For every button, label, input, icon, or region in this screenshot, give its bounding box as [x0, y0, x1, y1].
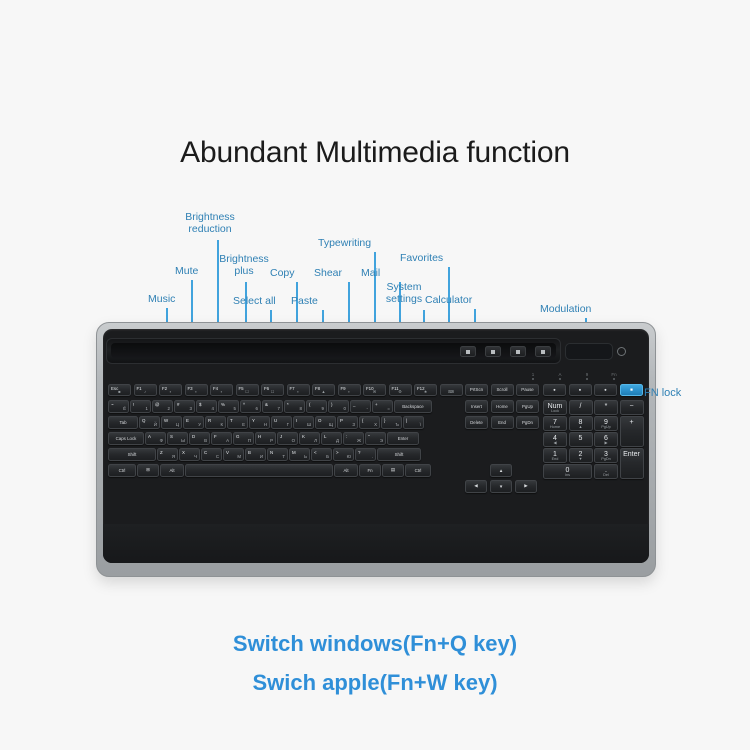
key-label: Home [492, 401, 513, 412]
key-numpad-enter[interactable]: Enter [620, 448, 644, 479]
key-?[interactable]: ?. [355, 448, 376, 461]
key-f2[interactable]: F2▪ [159, 384, 182, 396]
key-label: ▶ [516, 481, 536, 492]
key-label: Delete [466, 417, 487, 428]
key-legend-cyrillic: 1 [146, 406, 148, 411]
key-legend-cyrillic: 7 [278, 406, 280, 411]
key-label: Shift [109, 449, 155, 460]
key-legend-cyrillic: Ы [181, 438, 185, 443]
key-x[interactable]: XЧ [179, 448, 200, 461]
callout-label-calculator: Calculator [425, 295, 472, 307]
key-sublabel: End [544, 457, 566, 461]
key--[interactable]: _- [350, 400, 371, 413]
key-alt-right[interactable]: Alt [334, 464, 358, 477]
key-numpad-[interactable]: * [594, 400, 618, 415]
key-legend-latin: F [214, 434, 217, 439]
key-numpad-num[interactable]: NumLock [543, 400, 567, 415]
key-legend-cyrillic: Я [172, 454, 175, 459]
key-legend-cyrillic: Н [264, 422, 267, 427]
key-legend-cyrillic: - [367, 406, 368, 411]
key-legend-latin: E [186, 418, 189, 423]
key-label: + [621, 419, 643, 426]
key-n[interactable]: NТ [267, 448, 288, 461]
key-esc[interactable]: Esc■ [108, 384, 131, 396]
key-insert[interactable]: Insert [465, 400, 488, 413]
key-fn-symbol: ★ [415, 389, 436, 394]
key-3[interactable]: #3 [174, 400, 195, 413]
key-w[interactable]: WЦ [161, 416, 182, 429]
key-refresh-icon[interactable]: ● [594, 384, 617, 396]
key-legend-latin: @ [155, 402, 159, 407]
key-<[interactable]: <Б [311, 448, 332, 461]
key-legend-latin: ! [133, 402, 134, 407]
key-fn-symbol: ▪ [288, 389, 309, 394]
key-media[interactable]: ⌨ [440, 384, 463, 396]
key-legend-latin: U [274, 418, 277, 423]
key-fn[interactable]: Fn [359, 464, 381, 477]
key-legend-latin: ~ [111, 402, 114, 407]
callout-label-select-all: Select all [233, 296, 276, 308]
key-numpad-8[interactable]: 8▲ [569, 416, 593, 431]
next-track-icon [541, 350, 545, 354]
key-q[interactable]: QЙ [139, 416, 160, 429]
key-a[interactable]: AФ [145, 432, 166, 445]
callout-label-brightness-plus: Brightness plus [212, 254, 276, 277]
key-legend-latin: P [340, 418, 343, 423]
key-numpad-1[interactable]: 1End [543, 448, 567, 463]
key-legend-cyrillic: Ч [194, 454, 197, 459]
key-label: − [621, 403, 643, 410]
stop-button[interactable] [485, 346, 501, 357]
key-numpad-4[interactable]: 4◀ [543, 432, 567, 447]
callout-label-shear: Shear [314, 268, 342, 280]
key-z[interactable]: ZЯ [157, 448, 178, 461]
callout-label-mute: Mute [175, 266, 198, 278]
power-indicator-icon [617, 347, 626, 356]
key-sublabel: ▼ [570, 457, 592, 461]
modulation-slider-track[interactable] [565, 343, 613, 360]
key-legend-cyrillic: Ц [176, 422, 179, 427]
key-legend-cyrillic: Ф [160, 438, 163, 443]
play-pause-icon [516, 350, 520, 354]
key-label: Backspace [395, 401, 431, 412]
key-fn-symbol: ♪ [135, 389, 156, 394]
key-legend-latin: < [314, 450, 317, 455]
key-legend-latin: J [280, 434, 282, 439]
key-arrow-left[interactable]: ◀ [465, 480, 487, 493]
key-alt-left[interactable]: Alt [160, 464, 184, 477]
key-l[interactable]: LД [321, 432, 342, 445]
key-numpad-decimal[interactable]: .Del [594, 464, 618, 479]
key-label: Fn [360, 465, 380, 476]
key-f1[interactable]: F1♪ [134, 384, 157, 396]
prev-track-button[interactable] [460, 346, 476, 357]
key-delete[interactable]: Delete [465, 416, 488, 429]
product-feature-image: Abundant Multimedia function MusicMuteBr… [0, 0, 750, 750]
key-f[interactable]: FА [211, 432, 232, 445]
key-legend-cyrillic: З [352, 422, 355, 427]
prev-track-icon [466, 350, 470, 354]
key-enter[interactable]: Enter [387, 432, 419, 445]
led-indicator-1: 1 [527, 372, 539, 380]
key-legend-cyrillic: Б [326, 454, 329, 459]
key-legend-cyrillic: Э [380, 438, 383, 443]
key-label: Caps Lock [109, 433, 143, 444]
key-c[interactable]: CС [201, 448, 222, 461]
key-legend-latin: I [296, 418, 297, 423]
key-p[interactable]: PЗ [337, 416, 358, 429]
key-fn-symbol: ⌨ [441, 389, 462, 394]
key-label: ▲ [491, 465, 511, 476]
key-label: Ctrl [109, 465, 135, 476]
callout-label-copy: Copy [270, 268, 295, 280]
key-legend-cyrillic: = [387, 406, 390, 411]
key-2[interactable]: @2 [152, 400, 173, 413]
key-legend-cyrillic: Х [374, 422, 377, 427]
key-e[interactable]: EУ [183, 416, 204, 429]
key-legend-latin: Z [160, 450, 163, 455]
key-label: ● [570, 385, 591, 395]
key-label: ⊞ [138, 465, 158, 476]
key-label: Enter [388, 433, 418, 444]
key-legend-cyrillic: О [292, 438, 295, 443]
key-numpad-[interactable]: − [620, 400, 644, 415]
key-numpad-6[interactable]: 6▶ [594, 432, 618, 447]
key-r[interactable]: RК [205, 416, 226, 429]
key-numpad-5[interactable]: 5 [569, 432, 593, 447]
key-legend-latin: $ [199, 402, 201, 407]
key-o[interactable]: OЩ [315, 416, 336, 429]
key-label: PgUp [517, 401, 538, 412]
key-home-icon[interactable]: ● [543, 384, 566, 396]
key-label: End [492, 417, 513, 428]
key-legend-cyrillic: 9 [322, 406, 324, 411]
key-label: Pause [517, 385, 538, 395]
key-legend-cyrillic: \ [420, 422, 421, 427]
key-f9[interactable]: F9▪ [338, 384, 361, 396]
key-shift-left[interactable]: Shift [108, 448, 156, 461]
key-label: Shift [378, 449, 420, 460]
key-fn-lock[interactable]: ■ [620, 384, 643, 396]
key-numpad-9[interactable]: 9PgUp [594, 416, 618, 431]
key-legend-cyrillic: 3 [190, 406, 192, 411]
key-legend-cyrillic: П [248, 438, 251, 443]
key-fn-symbol: ⚙ [390, 389, 411, 394]
key-legend-latin: | [406, 418, 407, 423]
key-legend-latin: _ [353, 402, 355, 407]
key-legend-latin: * [287, 402, 289, 407]
key-fn-symbol: ▪ [339, 389, 360, 394]
callout-label-typewriting: Typewriting [318, 238, 371, 250]
key-legend-latin: W [164, 418, 168, 423]
key-backtick[interactable]: ~Ё [108, 400, 129, 413]
key-legend-cyrillic: У [198, 422, 201, 427]
next-track-button[interactable] [535, 346, 551, 357]
key-legend-latin: L [324, 434, 326, 439]
key-fn-symbol: ☐ [262, 389, 283, 394]
callout-label-music: Music [148, 294, 175, 306]
key-legend-cyrillic: 4 [212, 406, 214, 411]
key-numpad-0[interactable]: 0Ins [543, 464, 592, 479]
callout-label-brightness-reduction: Brightness reduction [178, 212, 242, 235]
key-label: ● [595, 385, 616, 395]
key-8[interactable]: *8 [284, 400, 305, 413]
key-legend-cyrillic: Ю [347, 454, 351, 459]
key-9[interactable]: (9 [306, 400, 327, 413]
led-indicator-4: Fn [608, 372, 620, 380]
key-legend-latin: S [170, 434, 173, 439]
key-legend-latin: { [362, 418, 363, 423]
key-legend-latin: R [208, 418, 211, 423]
key-f7[interactable]: F7▪ [287, 384, 310, 396]
key-u[interactable]: UГ [271, 416, 292, 429]
key-legend-latin: } [384, 418, 385, 423]
key-legend-cyrillic: . [372, 454, 373, 459]
key-1[interactable]: !1 [130, 400, 151, 413]
key-numpad-3[interactable]: 3PgDn [594, 448, 618, 463]
key-legend-cyrillic: В [204, 438, 207, 443]
key-legend-latin: D [192, 434, 195, 439]
key-legend-latin: T [230, 418, 233, 423]
key-legend-latin: " [368, 434, 370, 439]
key-v[interactable]: VМ [223, 448, 244, 461]
key-legend-latin: M [292, 450, 296, 455]
key-legend-latin: B [248, 450, 251, 455]
key-fn-symbol: ▪ [211, 389, 232, 394]
key-label: Tab [109, 417, 137, 428]
key-b[interactable]: BИ [245, 448, 266, 461]
key-prtscn[interactable]: PrtScn [465, 384, 488, 396]
key-f6[interactable]: F6☐ [261, 384, 284, 396]
key-menu[interactable]: ▤ [382, 464, 404, 477]
key-sublabel: Home [544, 425, 566, 429]
key-legend-cyrillic: 5 [234, 406, 236, 411]
key-fn-symbol: ☐ [237, 389, 258, 394]
key-legend-cyrillic: К [220, 422, 223, 427]
key-f4[interactable]: F4▪ [210, 384, 233, 396]
key-legend-cyrillic: Р [270, 438, 273, 443]
key-legend-latin: & [265, 402, 268, 407]
key-legend-latin: ( [309, 402, 310, 407]
key-legend-cyrillic: Е [242, 422, 245, 427]
key-f3[interactable]: F3▪ [185, 384, 208, 396]
key-7[interactable]: &7 [262, 400, 283, 413]
key-legend-cyrillic: И [260, 454, 263, 459]
palm-rest [103, 524, 649, 563]
key-label: ● [544, 385, 565, 395]
key-|[interactable]: |\ [403, 416, 424, 429]
key-i[interactable]: IШ [293, 416, 314, 429]
key-f11[interactable]: F11⚙ [389, 384, 412, 396]
key-label: * [595, 403, 617, 410]
key-tab[interactable]: Tab [108, 416, 138, 429]
key-legend-cyrillic: 2 [168, 406, 170, 411]
key-5[interactable]: %5 [218, 400, 239, 413]
key-f8[interactable]: F8▲ [312, 384, 335, 396]
key-caps-lock[interactable]: Caps Lock [108, 432, 144, 445]
key-legend-cyrillic: 6 [256, 406, 258, 411]
callout-label-modulation: Modulation [540, 304, 591, 316]
key-backspace[interactable]: Backspace [394, 400, 432, 413]
key-legend-cyrillic: Г [287, 422, 289, 427]
key-ctrl-left[interactable]: Ctrl [108, 464, 136, 477]
callout-label-paste: Paste [291, 296, 318, 308]
key-6[interactable]: ^6 [240, 400, 261, 413]
key-legend-cyrillic: А [226, 438, 229, 443]
key-sublabel: ▲ [570, 425, 592, 429]
key-legend-latin: ) [331, 402, 332, 407]
key-legend-latin: + [375, 402, 378, 407]
key-legend-latin: A [148, 434, 151, 439]
key-=[interactable]: += [372, 400, 393, 413]
key-label: / [570, 403, 592, 410]
key-f5[interactable]: F5☐ [236, 384, 259, 396]
key-"[interactable]: "Э [365, 432, 386, 445]
led-indicator-3: 9 [581, 372, 593, 380]
key-sublabel: Del [595, 473, 617, 477]
key-numpad-2[interactable]: 2▼ [569, 448, 593, 463]
key-legend-cyrillic: 8 [300, 406, 302, 411]
key-label: Alt [161, 465, 183, 476]
key-legend-latin: Y [252, 418, 255, 423]
key-sublabel: ◀ [544, 440, 566, 445]
key-:[interactable]: :Ж [343, 432, 364, 445]
key-home[interactable]: Home [491, 400, 514, 413]
key-{[interactable]: {Х [359, 416, 380, 429]
key-legend-latin: V [226, 450, 229, 455]
key-y[interactable]: YН [249, 416, 270, 429]
key-sublabel: ▶ [595, 440, 617, 445]
key-legend-cyrillic: Ё [123, 406, 126, 411]
key-t[interactable]: TЕ [227, 416, 248, 429]
key-sublabel: PgDn [595, 457, 617, 461]
key-legend-latin: K [302, 434, 305, 439]
key-legend-latin: # [177, 402, 179, 407]
key-m[interactable]: MЬ [289, 448, 310, 461]
key-g[interactable]: GП [233, 432, 254, 445]
key-label: PgDn [517, 417, 538, 428]
key-label: ◀ [466, 481, 486, 492]
key-label: Scroll [492, 385, 513, 395]
key-shift-right[interactable]: Shift [377, 448, 421, 461]
key-ctrl-right[interactable]: Ctrl [405, 464, 431, 477]
key-f10[interactable]: F10✉ [363, 384, 386, 396]
key-arrow-up[interactable]: ▲ [490, 464, 512, 477]
key-numpad-7[interactable]: 7Home [543, 416, 567, 431]
key-legend-cyrillic: Ъ [396, 422, 399, 427]
key-sublabel: PgUp [595, 425, 617, 429]
key->[interactable]: >Ю [333, 448, 354, 461]
key-pause[interactable]: Pause [516, 384, 539, 396]
key-legend-latin: X [182, 450, 185, 455]
key-numpad-[interactable]: / [569, 400, 593, 415]
key-label: ▼ [491, 481, 511, 492]
key-legend-cyrillic: Ж [357, 438, 361, 443]
key-legend-cyrillic: Щ [329, 422, 333, 427]
key-legend-latin: O [318, 418, 321, 423]
key-legend-cyrillic: Д [336, 438, 339, 443]
key-arrow-right[interactable]: ▶ [515, 480, 537, 493]
key-sublabel: Lock [544, 409, 566, 413]
key-}[interactable]: }Ъ [381, 416, 402, 429]
key-label: Enter [621, 451, 643, 458]
key-fn-symbol: ▲ [313, 389, 334, 394]
key-numpad-plus[interactable]: + [620, 416, 644, 447]
key-sublabel: Ins [544, 473, 591, 477]
key-legend-latin: > [336, 450, 339, 455]
key-scroll[interactable]: Scroll [491, 384, 514, 396]
key-legend-cyrillic: С [216, 454, 219, 459]
stop-icon [491, 350, 495, 354]
key-0[interactable]: )0 [328, 400, 349, 413]
key-4[interactable]: $4 [196, 400, 217, 413]
callout-label-mail: Mail [361, 268, 380, 280]
bottom-caption-2: Swich apple(Fn+W key) [0, 670, 750, 696]
key-f12[interactable]: F12★ [414, 384, 437, 396]
key-legend-latin: : [346, 434, 347, 439]
key-pgdn[interactable]: PgDn [516, 416, 539, 429]
key-legend-latin: C [204, 450, 207, 455]
key-legend-cyrillic: М [237, 454, 241, 459]
key-label: PrtScn [466, 385, 487, 395]
key-h[interactable]: HР [255, 432, 276, 445]
key-fn-symbol: ▪ [186, 389, 207, 394]
key-legend-latin: Q [142, 418, 145, 423]
key-label: ▤ [383, 465, 403, 476]
key-legend-cyrillic: 0 [344, 406, 346, 411]
key-legend-cyrillic: Ь [304, 454, 307, 459]
key-legend-latin: N [270, 450, 273, 455]
page-title: Abundant Multimedia function [0, 136, 750, 170]
key-legend-latin: ^ [243, 402, 245, 407]
key-fn-symbol: ▪ [160, 389, 181, 394]
play-pause-button[interactable] [510, 346, 526, 357]
led-indicator-2: A [554, 372, 566, 380]
key-d[interactable]: DВ [189, 432, 210, 445]
key-label: Insert [466, 401, 487, 412]
key-space[interactable] [185, 464, 333, 477]
key-search-icon[interactable]: ● [569, 384, 592, 396]
key-pgup[interactable]: PgUp [516, 400, 539, 413]
key-windows[interactable]: ⊞ [137, 464, 159, 477]
key-j[interactable]: JО [277, 432, 298, 445]
key-label: ■ [621, 385, 642, 395]
key-label: 5 [570, 435, 592, 442]
key-label: Ctrl [406, 465, 430, 476]
key-fn-symbol: ✉ [364, 389, 385, 394]
key-legend-cyrillic: Ш [307, 422, 311, 427]
key-legend-latin: % [221, 402, 225, 407]
key-legend-cyrillic: Л [314, 438, 317, 443]
key-legend-latin: G [236, 434, 239, 439]
key-label: Alt [335, 465, 357, 476]
key-fn-symbol: ■ [109, 389, 130, 394]
fn-lock-label: FN lock [644, 388, 681, 400]
key-k[interactable]: KЛ [299, 432, 320, 445]
callout-label-favorites: Favorites [400, 253, 443, 265]
key-end[interactable]: End [491, 416, 514, 429]
key-legend-cyrillic: Й [154, 422, 157, 427]
key-legend-latin: H [258, 434, 261, 439]
key-legend-latin: ? [358, 450, 360, 455]
key-legend-cyrillic: Т [282, 454, 285, 459]
key-s[interactable]: SЫ [167, 432, 188, 445]
bottom-caption-1: Switch windows(Fn+Q key) [0, 631, 750, 657]
key-arrow-down[interactable]: ▼ [490, 480, 512, 493]
